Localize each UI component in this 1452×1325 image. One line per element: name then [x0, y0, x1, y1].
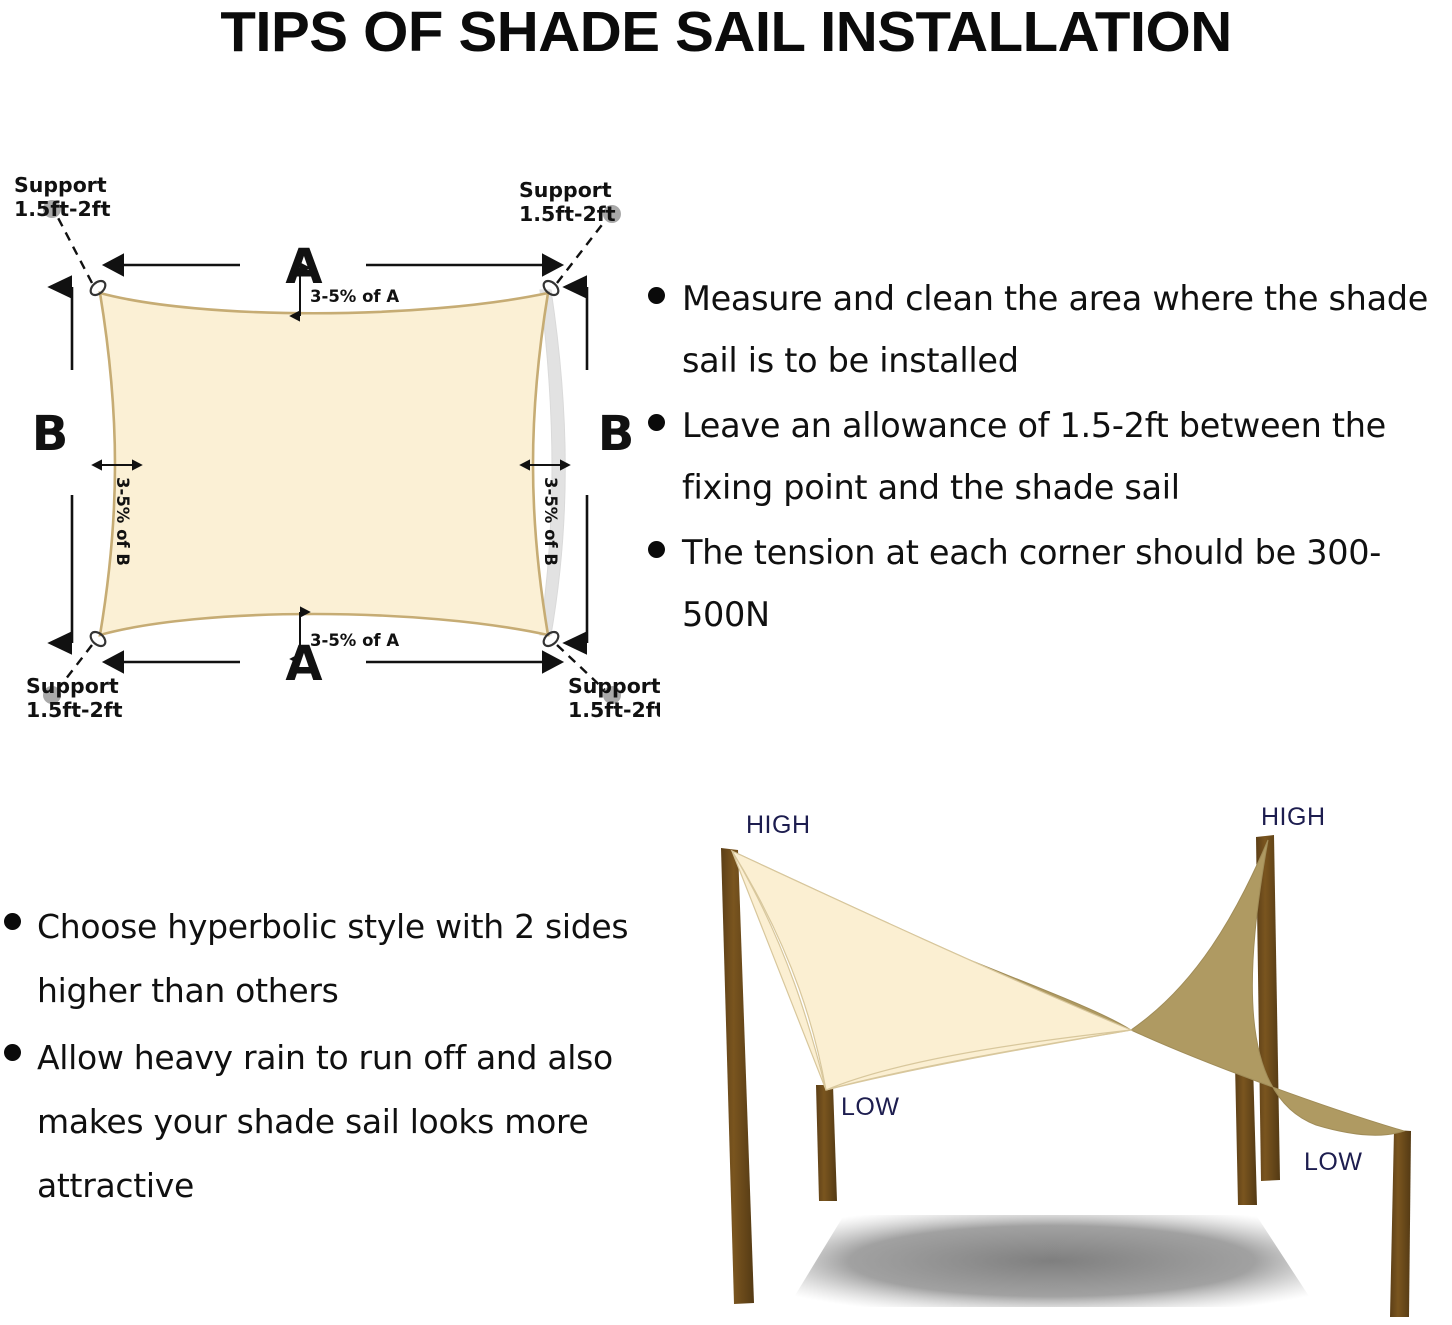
curve-depth-label-top: 3-5% of A	[310, 287, 399, 306]
page-title: TIPS OF SHADE SAIL INSTALLATION	[0, 2, 1452, 62]
support-label-bottom-left-line1: Support	[26, 674, 119, 698]
post-high-left	[721, 848, 754, 1304]
shade-sail-shape	[100, 293, 548, 635]
tip-text: Leave an allowance of 1.5-2ft between th…	[682, 395, 1452, 519]
label-high-right: HIGH	[1261, 803, 1326, 831]
bullet-dot-icon	[4, 1044, 21, 1061]
list-item: The tension at each corner should be 300…	[648, 522, 1452, 646]
support-label-bottom-right-line1: Support	[568, 674, 660, 698]
tether-top-left	[55, 212, 92, 283]
installation-tips-list-top: Measure and clean the area where the sha…	[648, 268, 1452, 649]
reference-outline-band	[540, 290, 565, 635]
list-item: Choose hyperbolic style with 2 sides hig…	[4, 895, 634, 1023]
list-item: Leave an allowance of 1.5-2ft between th…	[648, 395, 1452, 519]
label-low-right: LOW	[1304, 1148, 1362, 1176]
post-mid-right	[1235, 1063, 1257, 1205]
list-item: Measure and clean the area where the sha…	[648, 268, 1452, 392]
tether-top-right	[557, 217, 608, 283]
post-low-left	[816, 1085, 837, 1201]
sail-surface-light	[732, 851, 1131, 1090]
tip-text: Allow heavy rain to run off and also mak…	[37, 1026, 634, 1218]
dimension-label-right-B: B	[598, 406, 635, 462]
curve-depth-label-left: 3-5% of B	[113, 477, 132, 566]
tip-text: The tension at each corner should be 300…	[682, 522, 1452, 646]
installation-tips-list-bottom: Choose hyperbolic style with 2 sides hig…	[4, 895, 634, 1221]
support-label-top-left-line2: 1.5ft-2ft	[14, 197, 111, 221]
curve-depth-label-bottom: 3-5% of A	[310, 631, 399, 650]
dimension-label-left-B: B	[32, 406, 69, 462]
support-label-top-left-line1: Support	[14, 173, 107, 197]
ground-shadow	[788, 1215, 1316, 1307]
bullet-dot-icon	[648, 414, 665, 431]
list-item: Allow heavy rain to run off and also mak…	[4, 1026, 634, 1218]
infographic-page: TIPS OF SHADE SAIL INSTALLATION	[0, 0, 1452, 1325]
support-label-bottom-right: Support 1.5ft-2ft	[568, 674, 660, 722]
support-label-bottom-right-line2: 1.5ft-2ft	[568, 698, 660, 722]
support-label-bottom-left-line2: 1.5ft-2ft	[26, 698, 123, 722]
tip-text: Measure and clean the area where the sha…	[682, 268, 1452, 392]
support-label-top-right: Support 1.5ft-2ft	[519, 178, 616, 226]
tip-text: Choose hyperbolic style with 2 sides hig…	[37, 895, 634, 1023]
hyperbolic-shade-sail-illustration: HIGH HIGH LOW LOW	[676, 795, 1452, 1325]
bullet-dot-icon	[648, 287, 665, 304]
label-high-left: HIGH	[746, 811, 811, 839]
support-label-top-right-line2: 1.5ft-2ft	[519, 202, 616, 226]
curve-depth-label-right: 3-5% of B	[541, 477, 560, 566]
support-label-bottom-left: Support 1.5ft-2ft	[26, 674, 123, 722]
bullet-dot-icon	[648, 541, 665, 558]
bullet-dot-icon	[4, 913, 21, 930]
post-low-right	[1390, 1130, 1411, 1317]
support-label-top-right-line1: Support	[519, 178, 612, 202]
support-label-top-left: Support 1.5ft-2ft	[14, 173, 111, 221]
shade-sail-dimension-diagram: Support 1.5ft-2ft Support 1.5ft-2ft Supp…	[0, 165, 660, 735]
label-low-left: LOW	[841, 1093, 899, 1121]
